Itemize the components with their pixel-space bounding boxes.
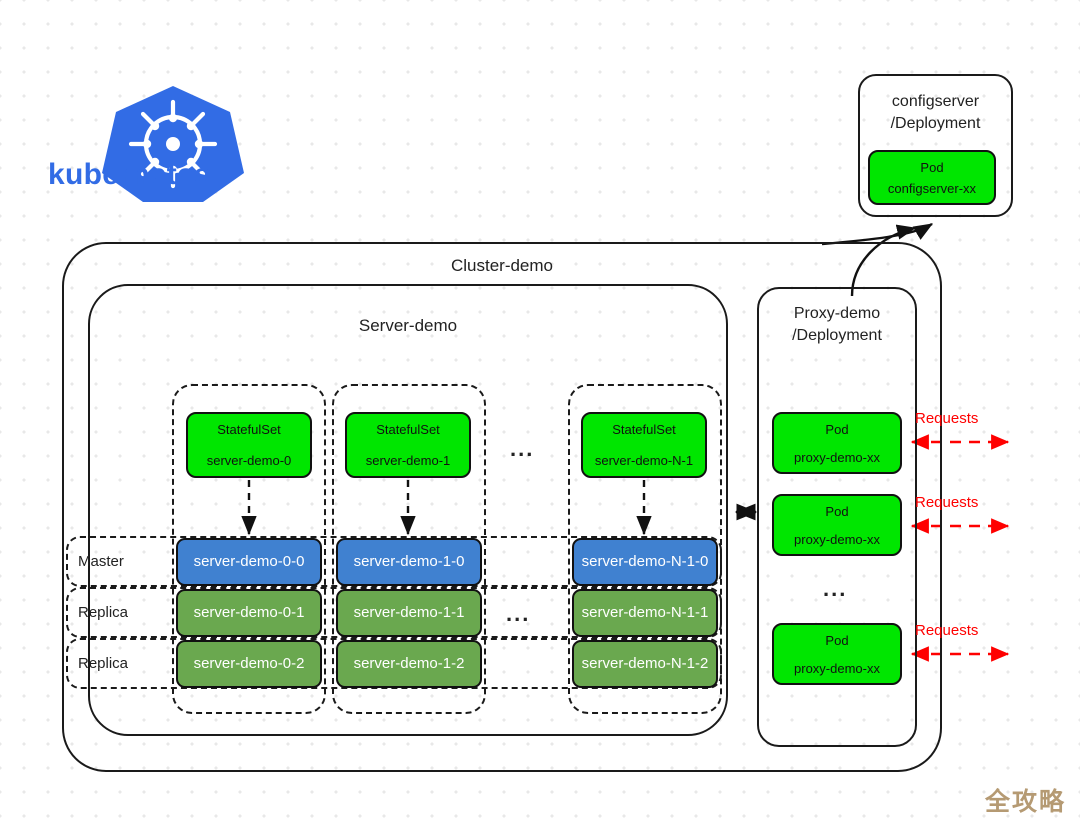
pod-kind-label: Pod — [774, 504, 900, 519]
proxy-demo-title-line2: /Deployment — [757, 324, 917, 348]
pod-name-label: proxy-demo-xx — [774, 532, 900, 547]
requests-label-2: Requests — [915, 622, 978, 639]
instance-cell-master-2[interactable]: server-demo-N-1-0 — [572, 538, 718, 586]
pod-kind-label: Pod — [870, 160, 994, 175]
instance-cell-replica2-2[interactable]: server-demo-N-1-2 — [572, 640, 718, 688]
diagram-canvas: kubernetes — [0, 0, 1080, 826]
requests-label-1: Requests — [915, 494, 978, 511]
row-label-replica-1: Replica — [78, 587, 178, 638]
statefulset-kind-label: StatefulSet — [347, 422, 469, 437]
configserver-title-line2: /Deployment — [858, 112, 1013, 136]
statefulset-box-0[interactable]: StatefulSet server-demo-0 — [186, 412, 312, 478]
cluster-demo-title: Cluster-demo — [62, 256, 942, 276]
requests-label-0: Requests — [915, 410, 978, 427]
instance-cell-replica1-1[interactable]: server-demo-1-1 — [336, 589, 482, 637]
row-label-replica-2: Replica — [78, 638, 178, 689]
pod-kind-label: Pod — [774, 422, 900, 437]
instance-rows-ellipsis: ... — [506, 603, 530, 625]
pod-name-label: proxy-demo-xx — [774, 661, 900, 676]
proxy-pods-ellipsis: ... — [823, 578, 847, 600]
pod-name-label: proxy-demo-xx — [774, 450, 900, 465]
statefulset-kind-label: StatefulSet — [583, 422, 705, 437]
instance-cell-replica2-0[interactable]: server-demo-0-2 — [176, 640, 322, 688]
configserver-pod[interactable]: Pod configserver-xx — [868, 150, 996, 205]
instance-cell-replica1-2[interactable]: server-demo-N-1-1 — [572, 589, 718, 637]
watermark: 全攻略 — [985, 782, 1066, 818]
instance-cell-replica2-1[interactable]: server-demo-1-2 — [336, 640, 482, 688]
proxy-pod-1[interactable]: Pod proxy-demo-xx — [772, 494, 902, 556]
statefulset-box-1[interactable]: StatefulSet server-demo-1 — [345, 412, 471, 478]
configserver-title-line1: configserver — [858, 90, 1013, 114]
statefulset-name-label: server-demo-1 — [347, 453, 469, 468]
pod-name-label: configserver-xx — [870, 181, 994, 196]
proxy-demo-title-line1: Proxy-demo — [757, 302, 917, 326]
instance-cell-master-1[interactable]: server-demo-1-0 — [336, 538, 482, 586]
statefulset-ellipsis: ... — [510, 438, 534, 460]
statefulset-name-label: server-demo-N-1 — [583, 453, 705, 468]
proxy-pod-2[interactable]: Pod proxy-demo-xx — [772, 623, 902, 685]
proxy-pod-0[interactable]: Pod proxy-demo-xx — [772, 412, 902, 474]
instance-cell-master-0[interactable]: server-demo-0-0 — [176, 538, 322, 586]
pod-kind-label: Pod — [774, 633, 900, 648]
statefulset-box-2[interactable]: StatefulSet server-demo-N-1 — [581, 412, 707, 478]
statefulset-kind-label: StatefulSet — [188, 422, 310, 437]
server-demo-title: Server-demo — [88, 316, 728, 336]
row-label-master: Master — [78, 536, 178, 587]
statefulset-name-label: server-demo-0 — [188, 453, 310, 468]
kubernetes-wordmark: kubernetes — [48, 158, 211, 192]
instance-cell-replica1-0[interactable]: server-demo-0-1 — [176, 589, 322, 637]
